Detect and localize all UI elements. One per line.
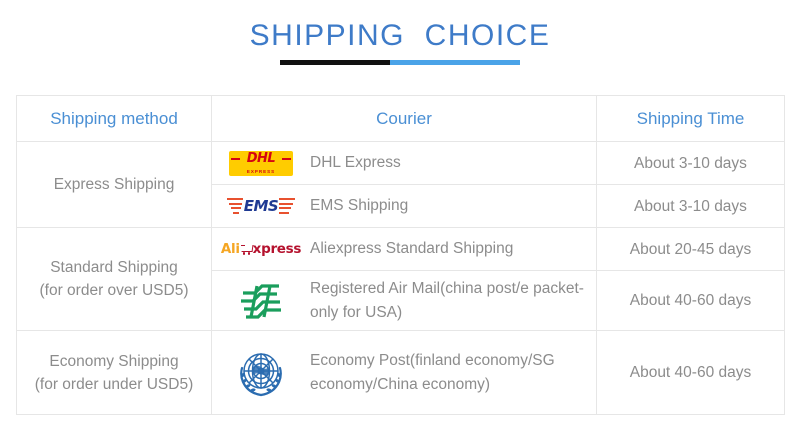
courier-dhl-express: DHL EXPRESS DHL Express [212, 142, 597, 185]
table-row: Express Shipping DHL EXPRESS DHL Express [17, 142, 785, 185]
method-label-line1: Economy Shipping [17, 350, 211, 373]
method-economy-shipping: Economy Shipping (for order under USD5) [17, 331, 212, 415]
china-post-logo [212, 279, 310, 323]
courier-aliexpress-standard: Ali xpress Aliexpress Standard Shipping [212, 228, 597, 271]
shopping-cart-icon [241, 244, 253, 255]
courier-label: Aliexpress Standard Shipping [310, 237, 596, 261]
shipping-options-table: Shipping method Courier Shipping Time Ex… [16, 95, 785, 415]
shipping-time-value: About 3-10 days [597, 185, 785, 228]
ems-logo: EMS [212, 194, 310, 218]
title-underline-blue-segment [390, 60, 520, 65]
dhl-logo: DHL EXPRESS [212, 151, 310, 176]
method-label-line2: (for order over USD5) [17, 279, 211, 302]
header-shipping-time: Shipping Time [597, 96, 785, 142]
dhl-logo-subtext: EXPRESS [229, 169, 293, 175]
method-label-line1: Standard Shipping [17, 256, 211, 279]
title-underline-dark-segment [280, 60, 390, 65]
shipping-time-value: About 40-60 days [597, 271, 785, 331]
courier-economy-post: Economy Post(finland economy/SG economy/… [212, 331, 597, 415]
united-nations-emblem-icon [233, 345, 289, 401]
united-nations-logo [212, 345, 310, 401]
page-title: SHIPPING CHOICE [0, 18, 800, 54]
courier-label: Economy Post(finland economy/SG economy/… [310, 349, 596, 397]
courier-ems-shipping: EMS EMS Shipping [212, 185, 597, 228]
china-post-emblem-icon [235, 279, 287, 323]
page-title-block: SHIPPING CHOICE [0, 18, 800, 65]
title-underline [280, 60, 520, 65]
method-standard-shipping: Standard Shipping (for order over USD5) [17, 228, 212, 331]
method-label-line2: (for order under USD5) [17, 373, 211, 396]
table-row: Standard Shipping (for order over USD5) … [17, 228, 785, 271]
shipping-time-value: About 3-10 days [597, 142, 785, 185]
method-express-shipping: Express Shipping [17, 142, 212, 228]
table-row: Economy Shipping (for order under USD5) [17, 331, 785, 415]
ems-logo-word: EMS [244, 194, 278, 218]
courier-label: EMS Shipping [310, 194, 596, 218]
table-header-row: Shipping method Courier Shipping Time [17, 96, 785, 142]
shipping-time-value: About 40-60 days [597, 331, 785, 415]
dhl-logo-word: DHL [229, 152, 293, 166]
shipping-choice-panel: SHIPPING CHOICE Shipping method Courier … [0, 0, 800, 438]
courier-label: DHL Express [310, 151, 596, 175]
header-courier: Courier [212, 96, 597, 142]
aliexpress-logo-part2: xpress [253, 237, 301, 261]
courier-label: Registered Air Mail(china post/e packet-… [310, 277, 596, 325]
courier-registered-air-mail: Registered Air Mail(china post/e packet-… [212, 271, 597, 331]
shipping-time-value: About 20-45 days [597, 228, 785, 271]
aliexpress-logo: Ali xpress [212, 237, 310, 261]
aliexpress-logo-part1: Ali [221, 237, 240, 261]
header-shipping-method: Shipping method [17, 96, 212, 142]
